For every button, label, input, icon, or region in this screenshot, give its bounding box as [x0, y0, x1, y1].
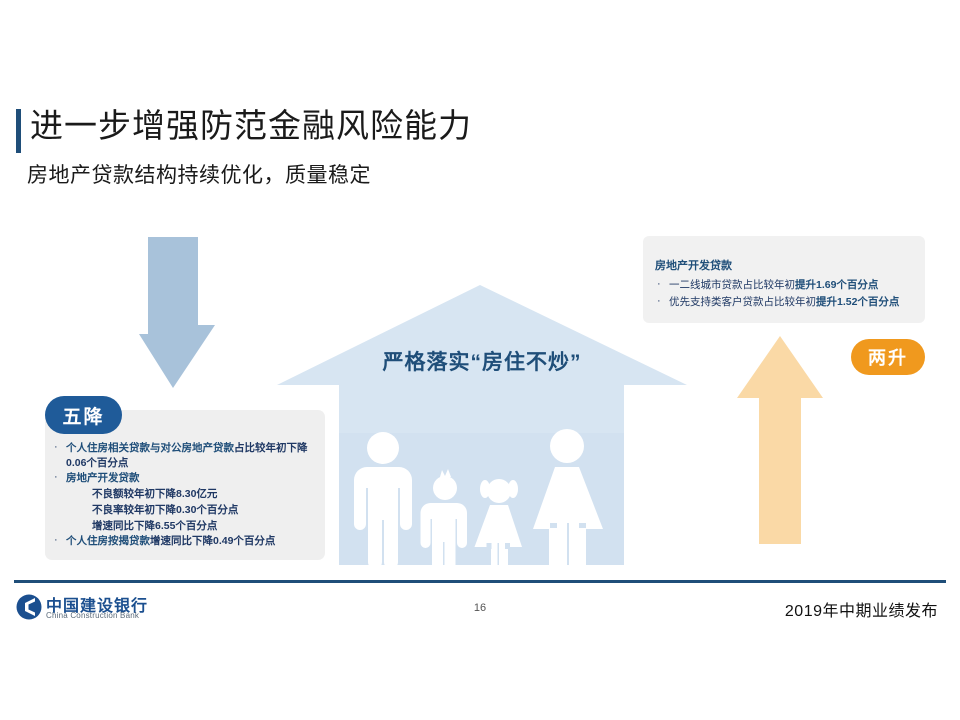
list-item-highlight: 提升1.69个百分点	[795, 279, 878, 291]
list-item-lead: 个人住房按揭贷款	[66, 535, 150, 547]
right-callout-heading: 房地产开发贷款	[655, 258, 923, 275]
slide-canvas: 进一步增强防范金融风险能力 房地产贷款结构持续优化，质量稳定	[0, 0, 960, 720]
list-subitem: 增速同比下降6.55个百分点	[66, 518, 320, 534]
left-callout-badge: 五降	[45, 396, 122, 434]
list-item: · 房地产开发贷款 不良额较年初下降8.30亿元 不良率较年初下降0.30个百分…	[52, 471, 320, 534]
page-title: 进一步增强防范金融风险能力	[30, 104, 472, 148]
list-item-text: 一二线城市贷款占比较年初	[669, 279, 795, 291]
list-item-rest: 占比较年初下降	[234, 442, 308, 454]
list-item-highlight: 提升1.52个百分点	[816, 296, 899, 308]
right-callout-badge: 两升	[851, 339, 925, 375]
right-callout-list: 房地产开发贷款 · 一二线城市贷款占比较年初提升1.69个百分点 · 优先支持类…	[655, 258, 923, 311]
down-arrow-icon	[139, 237, 215, 388]
bullet-dot: ·	[657, 293, 661, 310]
footer-right-text: 2019年中期业绩发布	[785, 597, 938, 621]
bullet-dot: ·	[54, 470, 58, 485]
list-item: · 优先支持类客户贷款占比较年初提升1.52个百分点	[655, 294, 923, 311]
bullet-dot: ·	[657, 276, 661, 293]
left-callout-list: · 个人住房相关贷款与对公房地产贷款占比较年初下降 0.06个百分点 · 房地产…	[52, 441, 320, 549]
up-arrow-icon	[737, 336, 823, 544]
list-item: · 个人住房相关贷款与对公房地产贷款占比较年初下降 0.06个百分点	[52, 441, 320, 471]
page-subtitle: 房地产贷款结构持续优化，质量稳定	[27, 161, 371, 191]
list-subitem: 不良率较年初下降0.30个百分点	[66, 502, 320, 518]
list-item: · 一二线城市贷款占比较年初提升1.69个百分点	[655, 277, 923, 294]
bullet-dot: ·	[54, 533, 58, 548]
bullet-dot: ·	[54, 440, 58, 455]
list-item-text: 优先支持类客户贷款占比较年初	[669, 296, 816, 308]
list-item: · 个人住房按揭贷款增速同比下降0.49个百分点	[52, 534, 320, 549]
title-accent-bar	[16, 109, 21, 153]
house-with-family-icon: 严格落实“房住不炒”	[277, 283, 687, 568]
house-slogan: 严格落实“房住不炒”	[277, 346, 687, 376]
list-item-rest: 增速同比下降0.49个百分点	[150, 535, 275, 547]
list-item-second-line: 0.06个百分点	[66, 456, 320, 471]
list-item-lead: 个人住房相关贷款与对公房地产贷款	[66, 442, 234, 454]
list-subitem: 不良额较年初下降8.30亿元	[66, 486, 320, 502]
footer-divider	[14, 580, 946, 583]
list-item-lead: 房地产开发贷款	[66, 472, 140, 484]
